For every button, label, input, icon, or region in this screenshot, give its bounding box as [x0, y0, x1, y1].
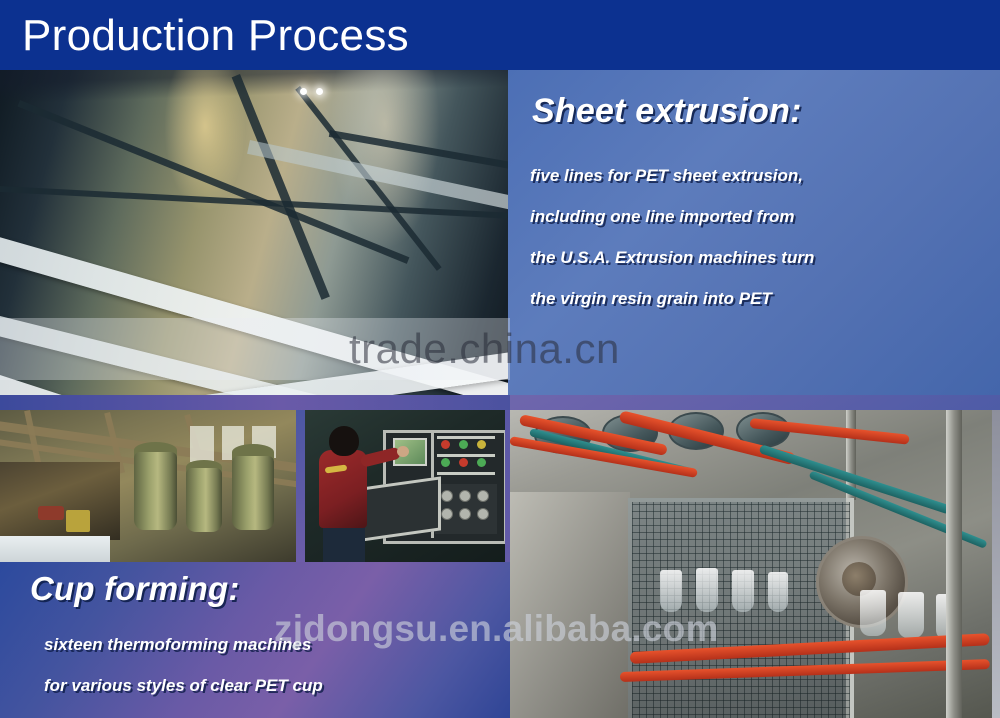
control-knob: [477, 490, 489, 502]
indicator-lamp: [477, 458, 486, 467]
sheet-extrusion-line: five lines for PET sheet extrusion,: [530, 155, 982, 196]
formed-pet-cup: [768, 572, 788, 612]
formed-pet-cup: [696, 568, 718, 612]
cup-forming-line: sixteen thermoforming machines: [44, 624, 504, 665]
tile-separator: [992, 410, 1000, 718]
photo-thermoforming-machine: [510, 410, 992, 718]
sheet-extrusion-line: including one line imported from: [530, 196, 982, 237]
tile-separator: [0, 395, 510, 410]
page-header: Production Process: [0, 0, 1000, 70]
factory-window: [190, 426, 214, 462]
sheet-extrusion-body: five lines for PET sheet extrusion, incl…: [530, 155, 982, 319]
indicator-lamp: [459, 440, 468, 449]
cup-forming-line: for various styles of clear PET cup: [44, 665, 504, 706]
photo-factory-silos: [0, 410, 296, 562]
tile-separator: [296, 410, 305, 562]
indicator-lamp: [441, 458, 450, 467]
formed-pet-cup: [860, 590, 886, 636]
formed-pet-cup: [732, 570, 754, 612]
operator-desk: [361, 476, 441, 541]
control-knob: [441, 508, 453, 520]
operator-jacket: [319, 450, 367, 528]
indicator-lamp: [459, 458, 468, 467]
formed-pet-cup: [898, 592, 924, 638]
sheet-extrusion-line: the virgin resin grain into PET: [530, 278, 982, 319]
resin-silo: [186, 468, 222, 532]
indicator-lamp: [441, 440, 450, 449]
page-title: Production Process: [22, 10, 409, 62]
sheet-extrusion-line: the U.S.A. Extrusion machines turn: [530, 237, 982, 278]
resin-silo: [134, 452, 177, 530]
section-cup-forming: Cup forming: sixteen thermoforming machi…: [0, 562, 510, 718]
operator-head: [329, 426, 359, 456]
button-rail: [437, 436, 495, 439]
photo-operator-control-panel: [305, 410, 505, 562]
formed-pet-cup: [660, 570, 682, 612]
support-post: [946, 410, 962, 718]
floor-highlight: [0, 536, 110, 562]
machinery-detail: [66, 510, 90, 532]
button-rail: [437, 454, 495, 457]
operator-legs: [323, 522, 365, 562]
machinery-detail: [38, 506, 64, 520]
cup-forming-body: sixteen thermoforming machines for vario…: [44, 624, 504, 706]
ceiling-lamp: [300, 88, 307, 95]
watermark-band: [0, 318, 510, 380]
button-rail: [437, 472, 495, 475]
resin-silo: [232, 456, 274, 530]
operator-hand: [397, 446, 409, 457]
cup-forming-heading: Cup forming:: [30, 568, 240, 610]
ceiling-lamp: [316, 88, 323, 95]
knob-panel: [435, 484, 497, 534]
machinery-block: [0, 462, 120, 540]
control-knob: [459, 508, 471, 520]
control-knob: [477, 508, 489, 520]
sheet-extrusion-heading: Sheet extrusion:: [532, 90, 802, 132]
control-knob: [459, 490, 471, 502]
section-sheet-extrusion: Sheet extrusion: five lines for PET shee…: [508, 70, 1000, 395]
machine-side-panel: [510, 492, 630, 718]
control-knob: [441, 490, 453, 502]
production-process-poster: Production Process: [0, 0, 1000, 718]
indicator-lamp: [477, 440, 486, 449]
